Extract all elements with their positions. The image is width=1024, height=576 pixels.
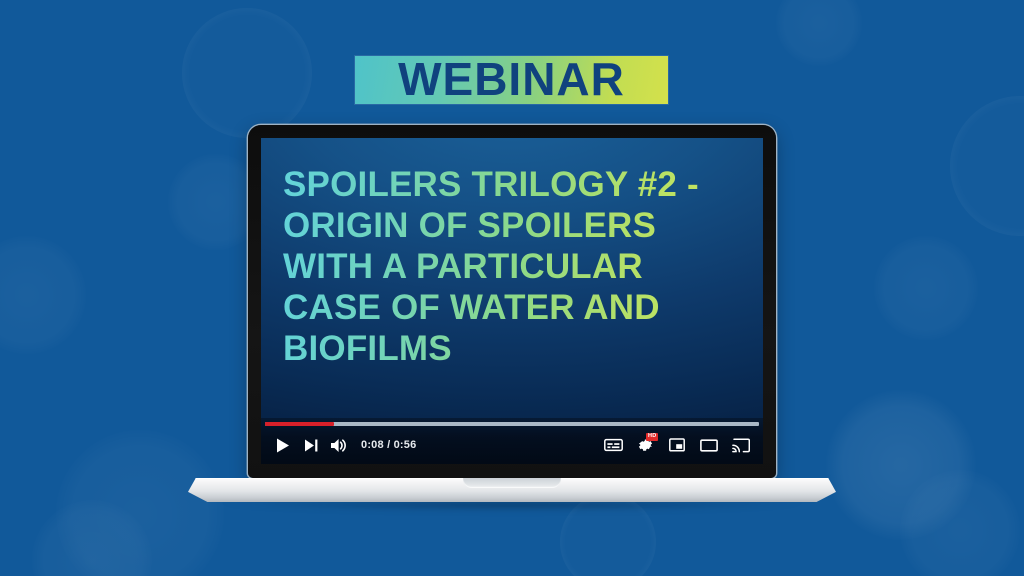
- next-button[interactable]: [297, 431, 325, 459]
- video-title: SPOILERS TRILOGY #2 - ORIGIN OF SPOILERS…: [283, 164, 745, 369]
- bokeh-circle: [776, 0, 862, 66]
- bokeh-circle: [950, 96, 1024, 236]
- laptop-base-notch: [463, 478, 561, 488]
- subtitles-button[interactable]: [599, 431, 627, 459]
- video-player-controls: 0:08 / 0:56: [261, 418, 763, 464]
- time-display: 0:08 / 0:56: [361, 439, 416, 451]
- play-button[interactable]: [269, 431, 297, 459]
- theater-button[interactable]: [695, 431, 723, 459]
- bokeh-circle: [874, 236, 978, 340]
- laptop-base-shadow: [216, 502, 808, 518]
- bokeh-circle: [826, 390, 976, 540]
- progress-bar[interactable]: [265, 422, 759, 426]
- player-right-controls: HD: [599, 431, 755, 459]
- player-controls-row: 0:08 / 0:56: [261, 428, 763, 462]
- bokeh-circle: [32, 500, 152, 576]
- laptop-base: [188, 478, 836, 504]
- bokeh-circle: [0, 236, 86, 354]
- cast-button[interactable]: [727, 431, 755, 459]
- laptop-screen: SPOILERS TRILOGY #2 - ORIGIN OF SPOILERS…: [261, 138, 763, 464]
- webinar-banner-label: WEBINAR: [398, 56, 625, 102]
- slide-canvas: WEBINAR SPOILERS TRILOGY #2 - ORIGIN OF …: [0, 0, 1024, 576]
- volume-button[interactable]: [325, 431, 353, 459]
- bokeh-circle: [900, 470, 1020, 576]
- hd-badge: HD: [646, 433, 658, 441]
- bokeh-circle: [182, 8, 312, 138]
- miniplayer-button[interactable]: [663, 431, 691, 459]
- webinar-banner: WEBINAR: [355, 56, 668, 104]
- progress-bar-played: [265, 422, 334, 426]
- settings-button[interactable]: HD: [631, 431, 659, 459]
